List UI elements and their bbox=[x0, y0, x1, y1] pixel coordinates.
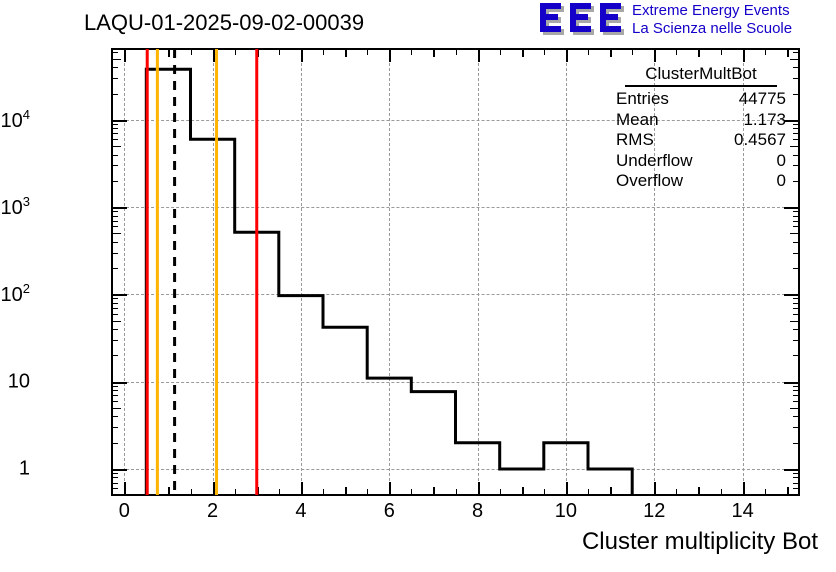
stats-row: RMS0.4567 bbox=[612, 130, 790, 151]
stats-row-label: Entries bbox=[616, 89, 669, 110]
stats-row-label: Overflow bbox=[616, 171, 683, 192]
x-tick-label: 12 bbox=[643, 500, 665, 523]
x-tick-label: 2 bbox=[207, 500, 218, 523]
x-tick-label: 0 bbox=[119, 500, 130, 523]
stats-box-title: ClusterMultBot bbox=[625, 64, 777, 87]
stats-row-label: RMS bbox=[616, 130, 654, 151]
stats-row: Underflow0 bbox=[612, 151, 790, 172]
x-axis-title: Cluster multiplicity Bot bbox=[582, 528, 818, 556]
stats-row: Mean1.173 bbox=[612, 110, 790, 131]
x-tick-label: 6 bbox=[384, 500, 395, 523]
stats-row: Entries44775 bbox=[612, 89, 790, 110]
stats-row-value: 0 bbox=[777, 151, 786, 172]
y-tick-label: 102 bbox=[1, 282, 30, 308]
stats-row-value: 44775 bbox=[739, 89, 786, 110]
y-tick-label: 103 bbox=[1, 194, 30, 220]
stats-row-label: Mean bbox=[616, 110, 659, 131]
histogram-outline bbox=[146, 69, 632, 494]
y-tick-label: 104 bbox=[1, 107, 30, 133]
y-tick-label: 10 bbox=[8, 370, 30, 393]
stats-row-value: 0.4567 bbox=[734, 130, 786, 151]
x-tick-label: 4 bbox=[295, 500, 306, 523]
stats-row-value: 1.173 bbox=[743, 110, 786, 131]
stats-row: Overflow0 bbox=[612, 171, 790, 192]
x-tick-label: 14 bbox=[731, 500, 753, 523]
stats-box: ClusterMultBot Entries44775Mean1.173RMS0… bbox=[612, 64, 790, 194]
stats-row-label: Underflow bbox=[616, 151, 693, 172]
stats-box-rows: Entries44775Mean1.173RMS0.4567Underflow0… bbox=[612, 89, 790, 192]
x-tick-label: 8 bbox=[472, 500, 483, 523]
x-tick-label: 10 bbox=[555, 500, 577, 523]
stats-row-value: 0 bbox=[777, 171, 786, 192]
y-tick-label: 1 bbox=[19, 458, 30, 481]
